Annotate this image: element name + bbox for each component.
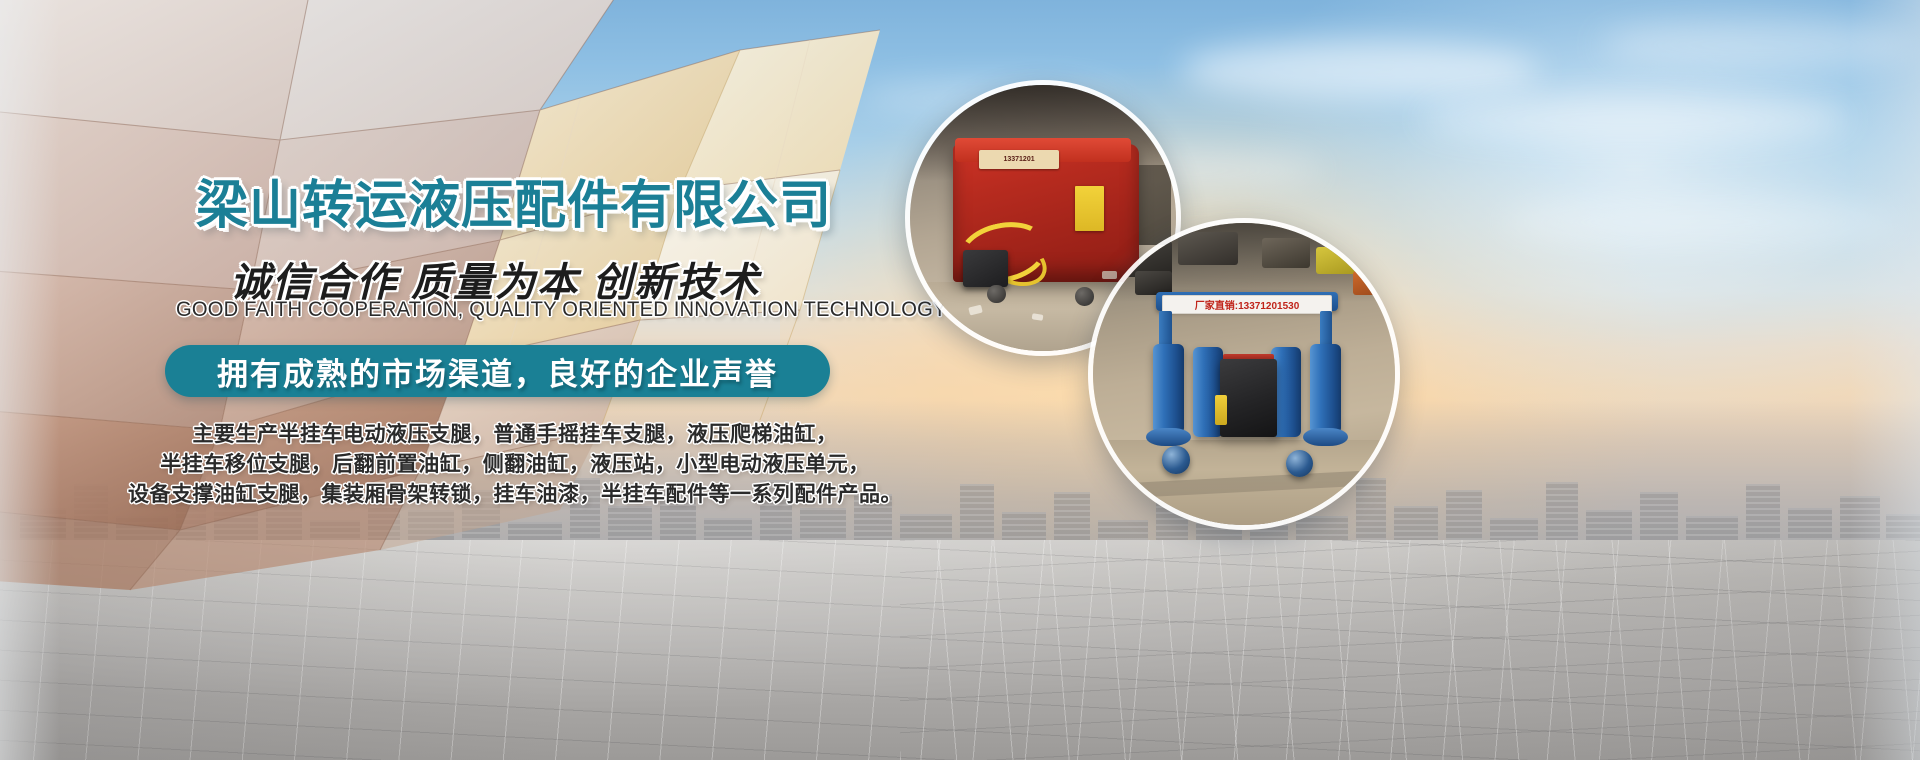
banner-text-block: 梁山转运液压配件有限公司 诚信合作 质量为本 创新技术 GOOD FAITH C… bbox=[0, 0, 900, 640]
product-description: 主要生产半挂车电动液压支腿，普通手摇挂车支腿，液压爬梯油缸， 半挂车移位支腿，后… bbox=[0, 420, 1030, 510]
factory-phone-text: 厂家直销:13371201530 bbox=[1195, 297, 1300, 312]
cloud-icon bbox=[1180, 40, 1540, 100]
right-edge-fade bbox=[1850, 0, 1920, 760]
blue-hydraulic-support-photo: 厂家直销:13371201530 bbox=[1088, 218, 1400, 530]
description-line: 主要生产半挂车电动液压支腿，普通手摇挂车支腿，液压爬梯油缸， bbox=[0, 420, 1030, 450]
factory-phone-sign: 厂家直销:13371201530 bbox=[1162, 295, 1331, 314]
highlight-pill-text: 拥有成熟的市场渠道，良好的企业声誉 bbox=[217, 349, 778, 394]
red-machine-label-text: 13371201 bbox=[1003, 156, 1034, 163]
red-machine-label: 13371201 bbox=[979, 150, 1059, 169]
description-line: 设备支撑油缸支腿，集装厢骨架转锁，挂车油漆，半挂车配件等一系列配件产品。 bbox=[0, 480, 1030, 510]
company-title: 梁山转运液压配件有限公司 bbox=[196, 163, 832, 238]
cloud-icon bbox=[1420, 95, 1850, 143]
highlight-pill: 拥有成熟的市场渠道，良好的企业声誉 bbox=[165, 345, 830, 397]
description-line: 半挂车移位支腿，后翻前置油缸，侧翻油缸，液压站，小型电动液压单元， bbox=[0, 450, 1030, 480]
slogan-english: GOOD FAITH COOPERATION, QUALITY ORIENTED… bbox=[176, 298, 947, 322]
cloud-icon bbox=[1500, 200, 1900, 244]
left-edge-fade bbox=[0, 0, 60, 760]
hero-banner: 梁山转运液压配件有限公司 诚信合作 质量为本 创新技术 GOOD FAITH C… bbox=[0, 0, 1920, 760]
